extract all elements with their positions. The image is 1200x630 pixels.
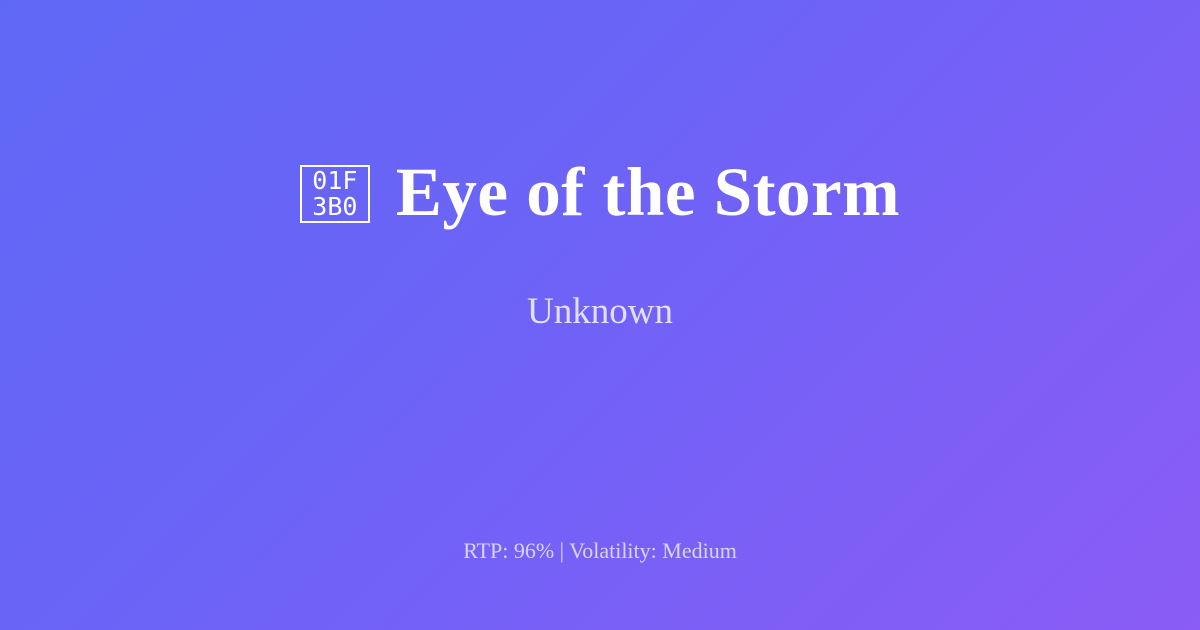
slot-machine-icon: 01F 3B0 [300, 165, 370, 223]
hero-section: 01F 3B0 Eye of the Storm Unknown [0, 0, 1200, 490]
tofu-codepoint-low: 3B0 [312, 194, 357, 220]
stats-footer: RTP: 96% | Volatility: Medium [0, 538, 1200, 564]
title-row: 01F 3B0 Eye of the Storm [300, 156, 900, 228]
game-provider-subtitle: Unknown [527, 228, 673, 334]
tofu-codepoint-high: 01F [312, 168, 357, 194]
page-title: Eye of the Storm [396, 156, 900, 228]
og-share-card: 01F 3B0 Eye of the Storm Unknown RTP: 96… [0, 0, 1200, 630]
game-stats-line: RTP: 96% | Volatility: Medium [463, 538, 737, 564]
